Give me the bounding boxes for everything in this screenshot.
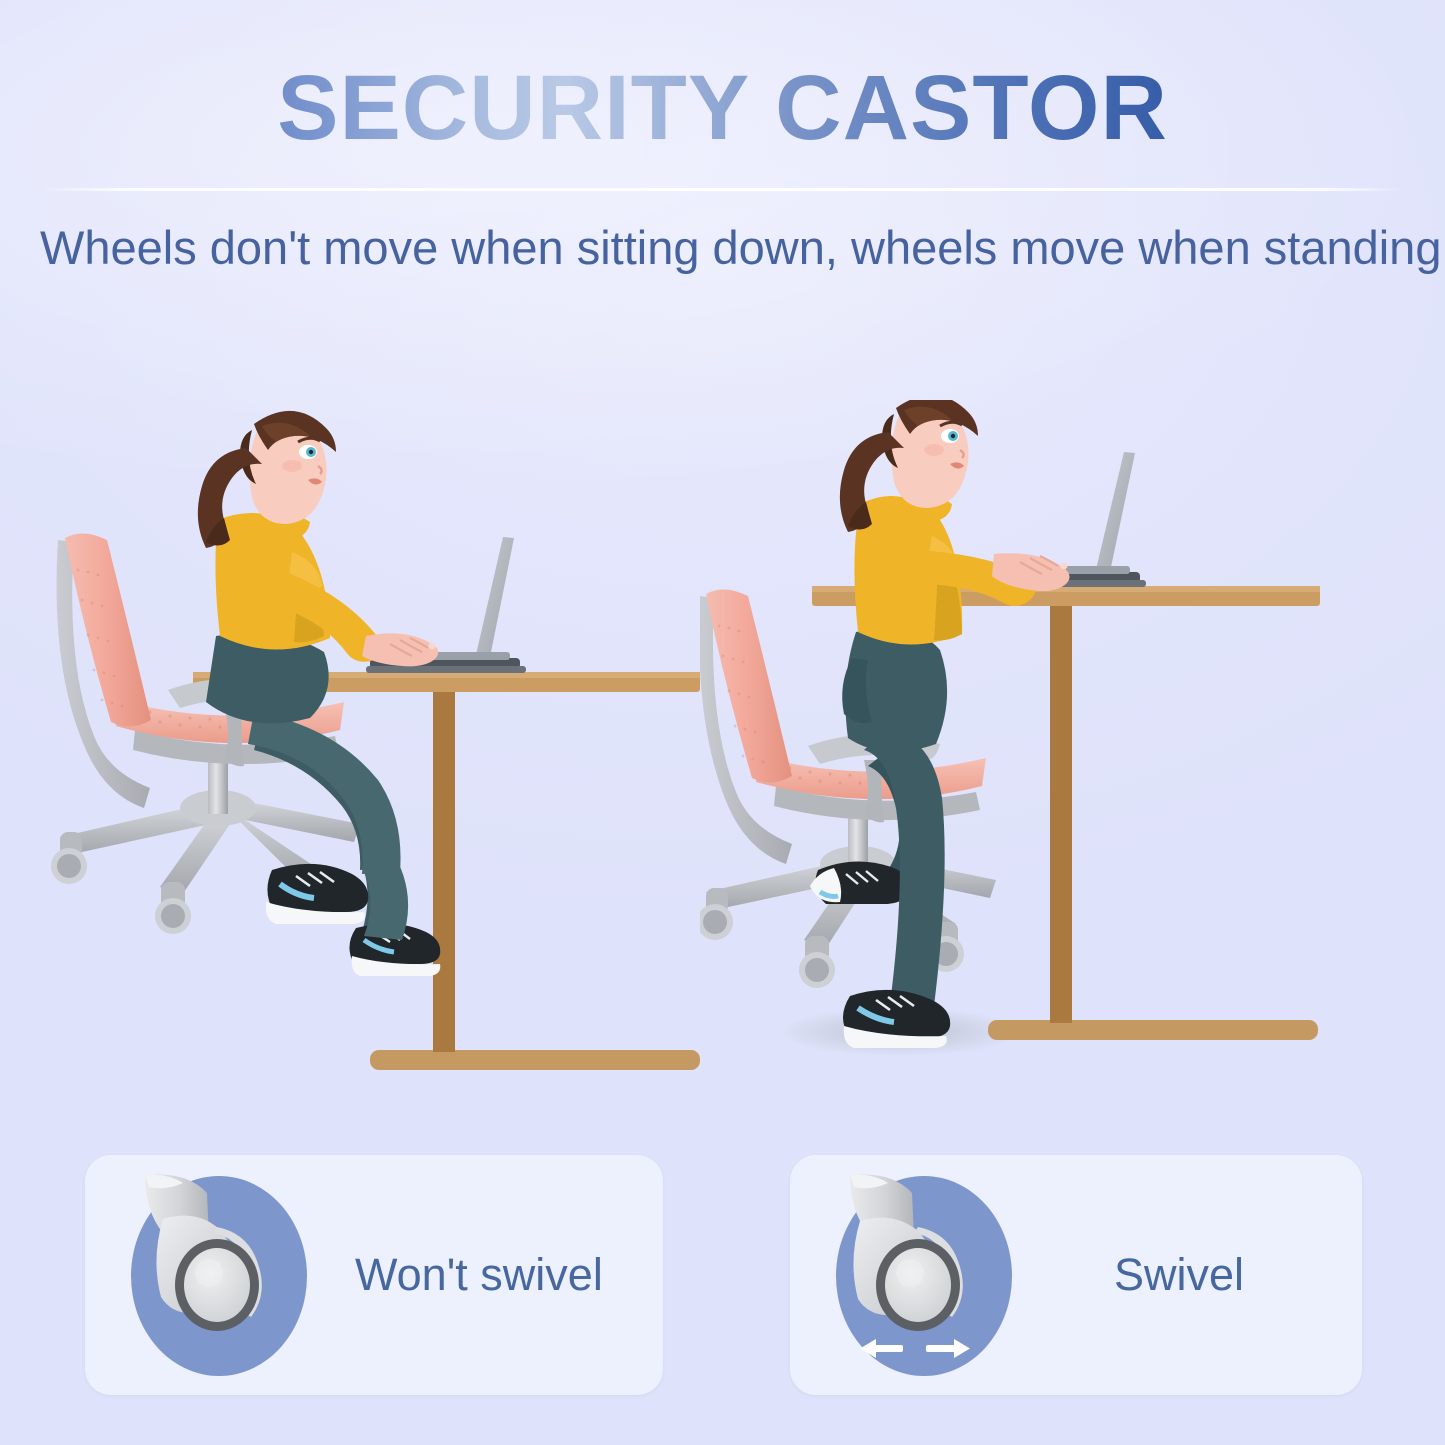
infographic-canvas: SECURITY CASTOR Wheels don't move when s… — [0, 0, 1445, 1445]
page-title: SECURITY CASTOR — [0, 62, 1445, 154]
castor-wheel-locked-icon — [129, 1173, 309, 1378]
wheel-hub — [184, 1248, 250, 1322]
castor-left — [51, 832, 87, 884]
castor-locked-svg — [129, 1173, 309, 1378]
shoe-front — [266, 864, 368, 924]
wheel-gloss — [896, 1259, 924, 1287]
castor-front-left — [799, 936, 835, 988]
castor-front-left — [155, 882, 191, 934]
feature-card-label: Won't swivel — [355, 1249, 603, 1301]
illustration-sitting-scene — [40, 400, 700, 1100]
person-sitting — [198, 411, 440, 976]
desk-column — [1050, 605, 1072, 1023]
page-subtitle: Wheels don't move when sitting down, whe… — [40, 220, 1410, 275]
person-standing — [810, 400, 1070, 1048]
laptop-screen — [1092, 452, 1135, 586]
desk-foot — [988, 1020, 1318, 1040]
laptop-foot — [366, 666, 526, 673]
header-divider — [40, 188, 1405, 191]
desk-column — [433, 690, 455, 1052]
sitting-scene-svg — [40, 400, 700, 1100]
desk-foot — [370, 1050, 700, 1070]
feature-card-swivel[interactable]: Swivel — [790, 1155, 1362, 1395]
feature-card-label: Swivel — [1114, 1249, 1244, 1301]
wheel-hub — [885, 1248, 951, 1322]
gas-cylinder — [208, 756, 228, 814]
gas-cylinder — [848, 812, 868, 870]
standing-scene-svg — [700, 400, 1400, 1100]
castor-wheel-swivel-icon — [834, 1173, 1014, 1378]
wheel-gloss — [195, 1259, 223, 1287]
feature-card-wont-swivel[interactable]: Won't swivel — [85, 1155, 663, 1395]
illustration-standing-scene — [700, 400, 1400, 1100]
office-chair-standing — [700, 589, 996, 988]
castor-swivel-svg — [834, 1173, 1014, 1378]
laptop-screen — [472, 537, 514, 672]
